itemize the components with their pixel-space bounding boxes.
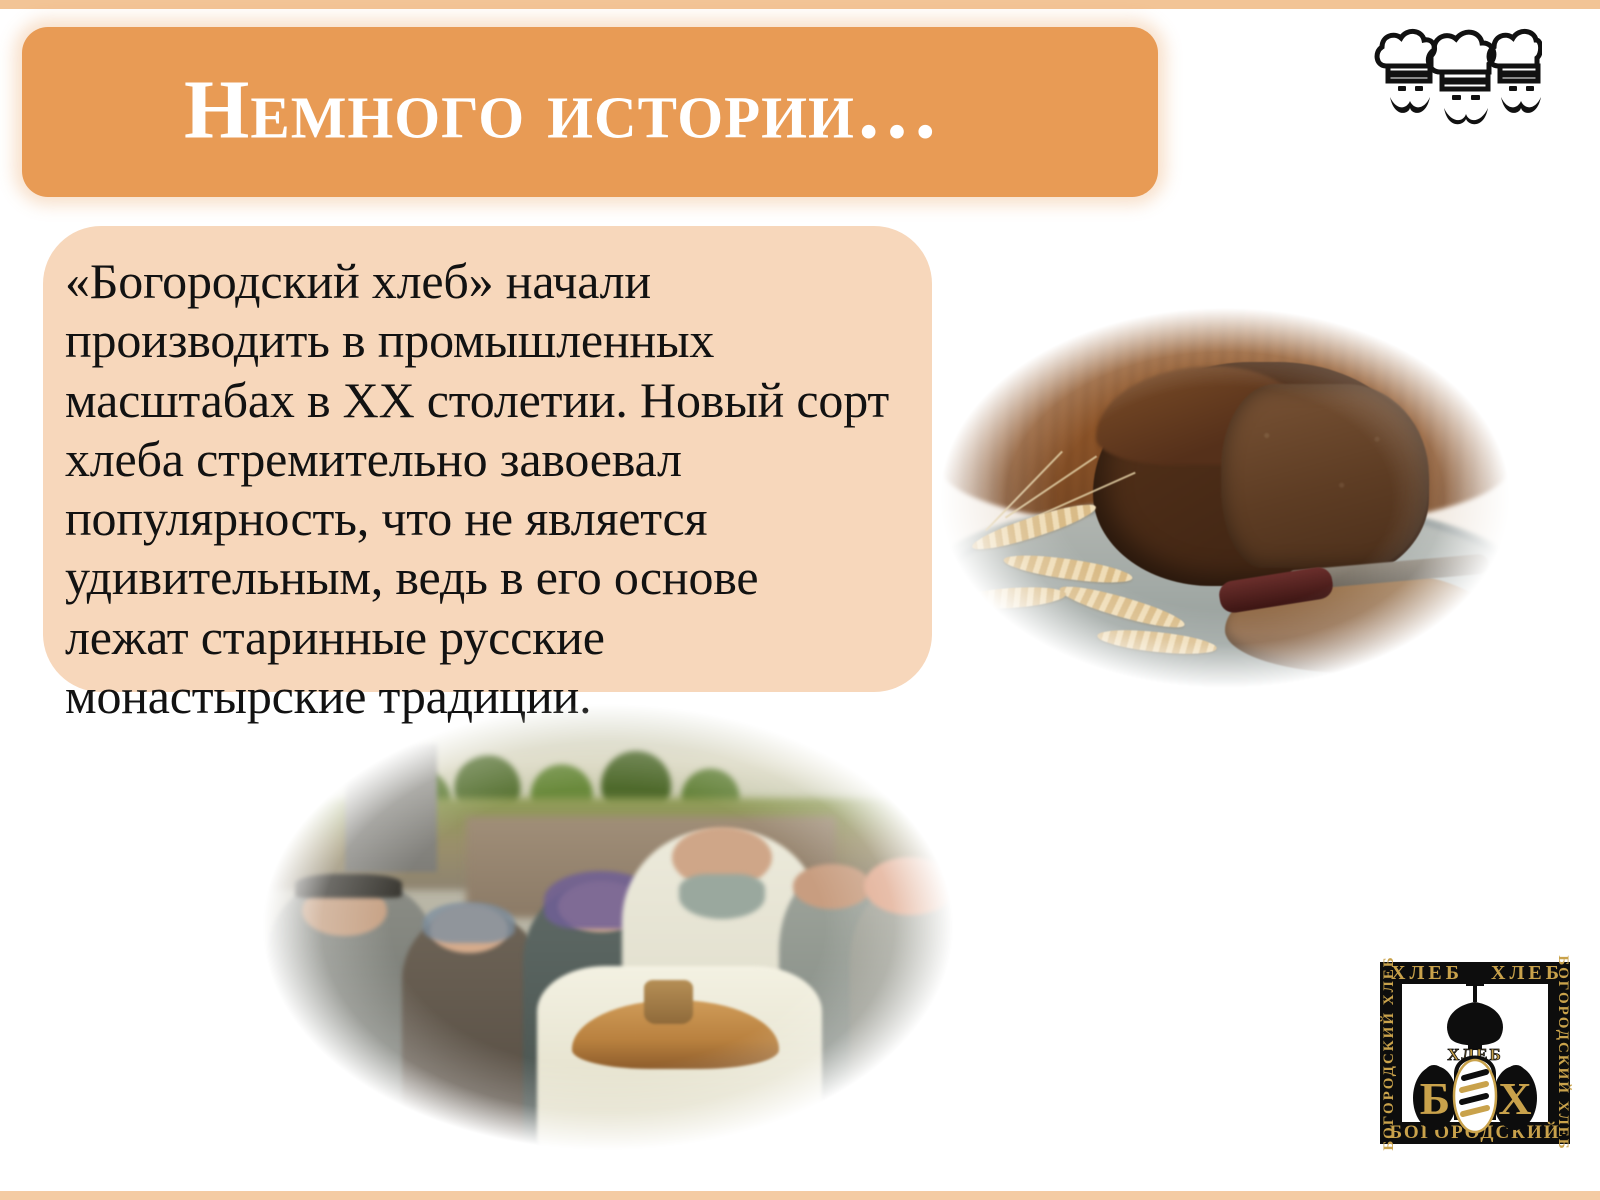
wheat-ear	[1002, 550, 1134, 588]
slide-canvas: Немного истории…	[0, 0, 1600, 1200]
body-paragraph: «Богородский хлеб» начали производить в …	[65, 252, 892, 726]
logo-right-side-word: БОГОРОДСКИЙ ХЛЕБ	[1555, 955, 1572, 1150]
logo-monogram-left: Б	[1420, 1073, 1450, 1124]
figure-beard	[679, 874, 764, 918]
body-text-card: «Богородский хлеб» начали производить в …	[43, 226, 932, 692]
rye-bread-loaf-photo	[925, 298, 1525, 698]
bread-photo-scene	[925, 298, 1525, 698]
logo-top-right-word: ХЛЕБ	[1491, 962, 1563, 984]
painting-crowd	[252, 817, 964, 1157]
figure-cap	[295, 874, 402, 898]
wheat-ear	[1056, 580, 1186, 635]
figure-head	[793, 864, 871, 908]
painting-scene	[252, 697, 964, 1157]
title-banner: Немного истории…	[22, 27, 1158, 197]
bread-and-salt-painting	[252, 697, 964, 1157]
salt-cellar	[644, 980, 694, 1024]
logo-left-side-word: БОГОРОДСКИЙ ХЛЕБ	[1380, 955, 1397, 1150]
chef-hats-icon	[1374, 22, 1542, 126]
wheat-ears	[949, 482, 1285, 674]
logo-bread-icon	[1454, 1060, 1496, 1132]
top-accent-strip	[0, 0, 1600, 9]
figure-head	[864, 857, 957, 915]
figure-right-2	[850, 885, 964, 1157]
bogorodsky-hleb-logo: ХЛЕБ ХЛЕБ БОГОРОДСКИЙ БОГОРОДСКИЙ ХЛЕБ Б…	[1372, 950, 1578, 1152]
wheat-ear	[1096, 626, 1217, 658]
figure-headscarf	[423, 902, 516, 943]
bottom-accent-strip	[0, 1191, 1600, 1200]
logo-monogram-right: Х	[1498, 1073, 1531, 1124]
logo-top-left-word: ХЛЕБ	[1391, 962, 1463, 984]
page-title: Немного истории…	[184, 68, 940, 152]
wheat-ear	[955, 584, 1066, 612]
